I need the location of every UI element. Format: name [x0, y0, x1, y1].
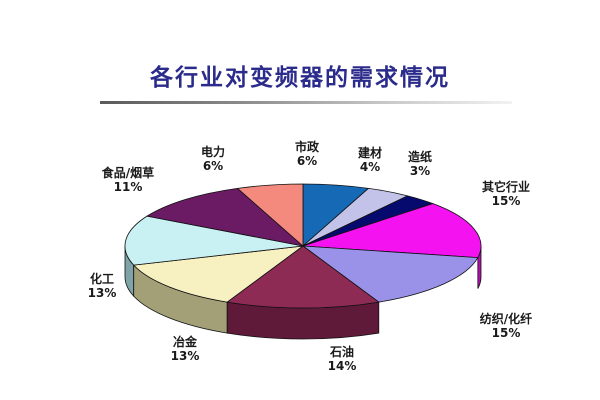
pie-label-name: 电力: [183, 145, 243, 159]
pie-label-食品/烟草: 食品/烟草11%: [78, 166, 178, 194]
pie-label-name: 其它行业: [463, 180, 549, 194]
pie-label-name: 冶金: [155, 335, 215, 349]
pie-label-冶金: 冶金13%: [155, 335, 215, 363]
pie-label-percent: 13%: [72, 286, 132, 300]
pie-label-造纸: 造纸3%: [396, 150, 444, 178]
pie-label-化工: 化工13%: [72, 272, 132, 300]
pie-label-percent: 11%: [78, 180, 178, 194]
pie-label-percent: 14%: [312, 359, 372, 373]
pie-label-percent: 3%: [396, 164, 444, 178]
pie-top-faces: 市政 6%建材 4%造纸 3%其它行业 15%纺织/化纤 15%石油 14%冶金…: [125, 184, 481, 308]
pie-label-percent: 15%: [463, 194, 549, 208]
pie-label-name: 化工: [72, 272, 132, 286]
pie-label-name: 食品/烟草: [78, 166, 178, 180]
pie-label-percent: 6%: [183, 159, 243, 173]
pie-label-percent: 6%: [277, 154, 337, 168]
pie-label-其它行业: 其它行业15%: [463, 180, 549, 208]
pie-label-name: 石油: [312, 345, 372, 359]
pie-label-石油: 石油14%: [312, 345, 372, 373]
pie-label-纺织/化纤: 纺织/化纤15%: [461, 312, 551, 340]
pie-label-percent: 15%: [461, 326, 551, 340]
pie-label-name: 建材: [346, 146, 394, 160]
pie-label-percent: 13%: [155, 349, 215, 363]
slide-canvas: 各行业对变频器的需求情况 市政 6%建材 4%造纸 3%其它行业 15%纺织/化…: [0, 0, 600, 400]
pie-label-name: 造纸: [396, 150, 444, 164]
pie-label-name: 市政: [277, 140, 337, 154]
pie-label-市政: 市政6%: [277, 140, 337, 168]
pie-label-电力: 电力6%: [183, 145, 243, 173]
pie-label-name: 纺织/化纤: [461, 312, 551, 326]
pie-label-建材: 建材4%: [346, 146, 394, 174]
pie-label-percent: 4%: [346, 160, 394, 174]
